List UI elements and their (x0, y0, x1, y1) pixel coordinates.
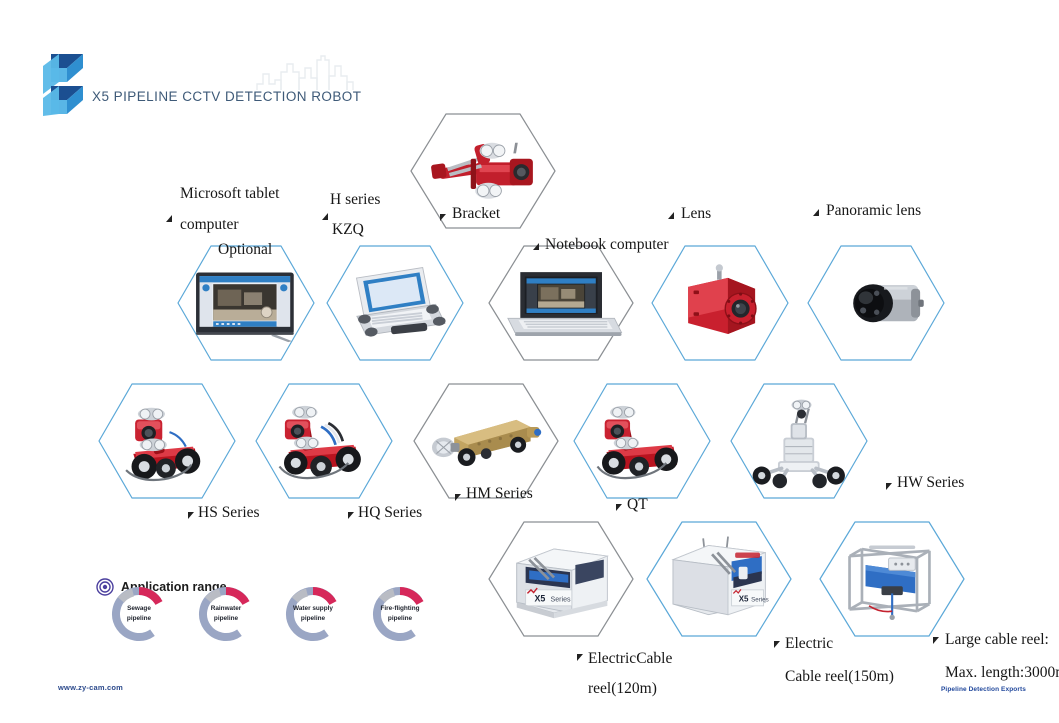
marker-lens (668, 212, 674, 219)
donut-rainwater-caption: Rainwater pipeline (195, 583, 257, 645)
tablet-computer-illustration (187, 256, 305, 350)
marker-h-series (322, 213, 328, 220)
cell-large-cable-reel[interactable] (818, 520, 966, 638)
marker-qt (616, 504, 622, 511)
cell-electric-cable-reel-120m[interactable]: X5 Series (487, 520, 635, 638)
label-electric-cable: ElectricCable (588, 650, 672, 668)
cell-hm-series[interactable] (412, 382, 560, 500)
marker-large-cable-reel (933, 637, 939, 644)
cable-reel-tall-illustration: X5 Series (657, 532, 781, 626)
cable-reel-box-illustration: X5 Series (499, 532, 623, 626)
label-hw-series: HW Series (897, 474, 964, 492)
donut-sewage-pipeline: Sewage pipeline (108, 583, 170, 645)
donut-rainwater-pipeline: Rainwater pipeline (195, 583, 257, 645)
donut-water-supply-caption: Water supply pipeline (282, 583, 344, 645)
cell-hw-series[interactable] (729, 382, 869, 500)
marker-notebook-computer (533, 243, 539, 250)
label-reel-120m: reel(120m) (588, 680, 657, 698)
cell-panoramic-lens[interactable] (806, 244, 946, 362)
notebook-computer-illustration (499, 256, 623, 350)
label-kzq: KZQ (332, 221, 364, 239)
red-lens-camera-illustration (661, 256, 779, 350)
label-computer: computer (180, 216, 239, 234)
marker-electric-cable (577, 654, 583, 661)
website-url[interactable]: www.zy-cam.com (58, 683, 123, 692)
rugged-laptop-illustration (336, 256, 454, 350)
poster-canvas: X5 PIPELINE CCTV DETECTION ROBOT (0, 0, 1059, 723)
cell-hq-series[interactable] (254, 382, 394, 500)
label-panoramic-lens: Panoramic lens (826, 202, 921, 220)
marker-panoramic-lens (813, 209, 819, 216)
marker-hm-series (455, 494, 461, 501)
label-max-length: Max. length:3000m (945, 664, 1059, 682)
label-qt: QT (627, 496, 648, 514)
cell-qt[interactable] (572, 382, 712, 500)
cell-notebook-computer[interactable] (487, 244, 635, 362)
chevron-stack-logo (41, 52, 93, 118)
marker-microsoft-tablet (166, 215, 172, 222)
panoramic-lens-illustration (817, 256, 935, 350)
label-large-cable-reel: Large cable reel: (945, 631, 1049, 649)
label-lens: Lens (681, 205, 711, 223)
marker-electric (774, 641, 780, 648)
city-skyline-icon (255, 54, 360, 92)
label-hm-series: HM Series (466, 485, 533, 503)
marker-bracket (440, 214, 446, 221)
large-cable-reel-illustration (830, 532, 954, 626)
svg-text:X5: X5 (739, 594, 749, 603)
label-h-series: H series (330, 191, 380, 209)
cell-hs-series[interactable] (97, 382, 237, 500)
donut-fire-flighting-pipeline: Fire-flighting pipeline (369, 583, 431, 645)
donut-sewage-caption: Sewage pipeline (108, 583, 170, 645)
hm-tractor-illustration (424, 394, 548, 488)
label-optional: Optional (218, 241, 272, 259)
marker-hq-series (348, 512, 354, 519)
application-range-donuts: Sewage pipeline Rainwater pipeline Wat (100, 583, 460, 645)
svg-text:X5: X5 (534, 593, 545, 603)
label-hs-series: HS Series (198, 504, 260, 522)
marker-hs-series (188, 512, 194, 519)
cell-microsoft-tablet[interactable] (176, 244, 316, 362)
label-hq-series: HQ Series (358, 504, 422, 522)
label-microsoft-tablet: Microsoft tablet (180, 185, 279, 203)
svg-text:Series: Series (751, 596, 769, 603)
marker-hw-series (886, 483, 892, 490)
donut-fire-flighting-caption: Fire-flighting pipeline (369, 583, 431, 645)
label-electric: Electric (785, 635, 833, 653)
cell-h-series-kzq[interactable] (325, 244, 465, 362)
label-cable-reel-150m: Cable reel(150m) (785, 668, 894, 686)
donut-water-supply-pipeline: Water supply pipeline (282, 583, 344, 645)
hw-crawler-illustration (740, 394, 858, 488)
hq-crawler-illustration (265, 394, 383, 488)
svg-text:Series: Series (550, 595, 571, 603)
label-bracket: Bracket (452, 205, 500, 223)
watermark-text: Pipeline Detection Exports (941, 686, 1026, 693)
cell-lens[interactable] (650, 244, 790, 362)
hs-crawler-illustration (108, 394, 226, 488)
qt-crawler-illustration (583, 394, 701, 488)
cell-electric-cable-reel-150m[interactable]: X5 Series (645, 520, 793, 638)
label-notebook-computer: Notebook computer (545, 236, 669, 254)
